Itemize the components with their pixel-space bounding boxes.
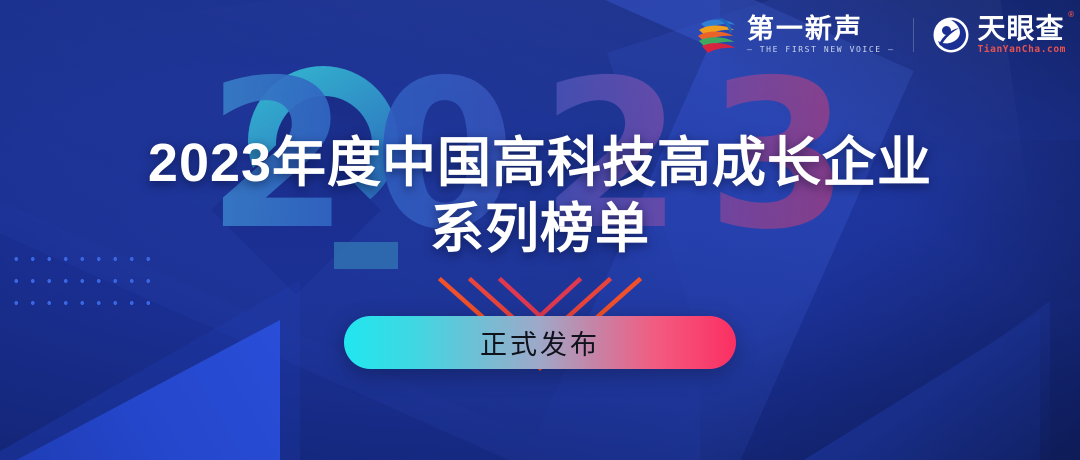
tianyancha-domain: TianYanCha.com	[978, 44, 1066, 55]
tianyancha-cn-label: 天眼查	[978, 13, 1065, 44]
headline-line-1: 2023年度中国高科技高成长企业	[0, 132, 1080, 194]
first-new-voice-cn-name: 第一新声	[747, 15, 895, 43]
first-new-voice-text: 第一新声 — THE FIRST NEW VOICE —	[747, 15, 895, 54]
page-title: 2023年度中国高科技高成长企业 系列榜单	[0, 132, 1080, 260]
logo-bar: 第一新声 — THE FIRST NEW VOICE — 天眼查® TianYa…	[695, 14, 1066, 55]
headline-line-2: 系列榜单	[0, 198, 1080, 260]
tianyancha-cn-name: 天眼查®	[978, 14, 1066, 43]
tianyancha-eye-icon	[932, 16, 970, 54]
tianyancha-text: 天眼查® TianYanCha.com	[978, 14, 1066, 55]
logo-divider	[913, 18, 914, 52]
tianyancha-logo[interactable]: 天眼查® TianYanCha.com	[932, 14, 1066, 55]
poster-banner: 2023 2023年度中国高科技高成长企业 系列榜单 正式发布	[0, 0, 1080, 460]
trademark-icon: ®	[1068, 11, 1075, 19]
release-status-label: 正式发布	[480, 323, 600, 362]
first-new-voice-swirl-icon	[695, 15, 739, 55]
first-new-voice-tagline: — THE FIRST NEW VOICE —	[747, 45, 895, 54]
release-status-button[interactable]: 正式发布	[344, 316, 736, 369]
first-new-voice-logo[interactable]: 第一新声 — THE FIRST NEW VOICE —	[695, 15, 895, 55]
